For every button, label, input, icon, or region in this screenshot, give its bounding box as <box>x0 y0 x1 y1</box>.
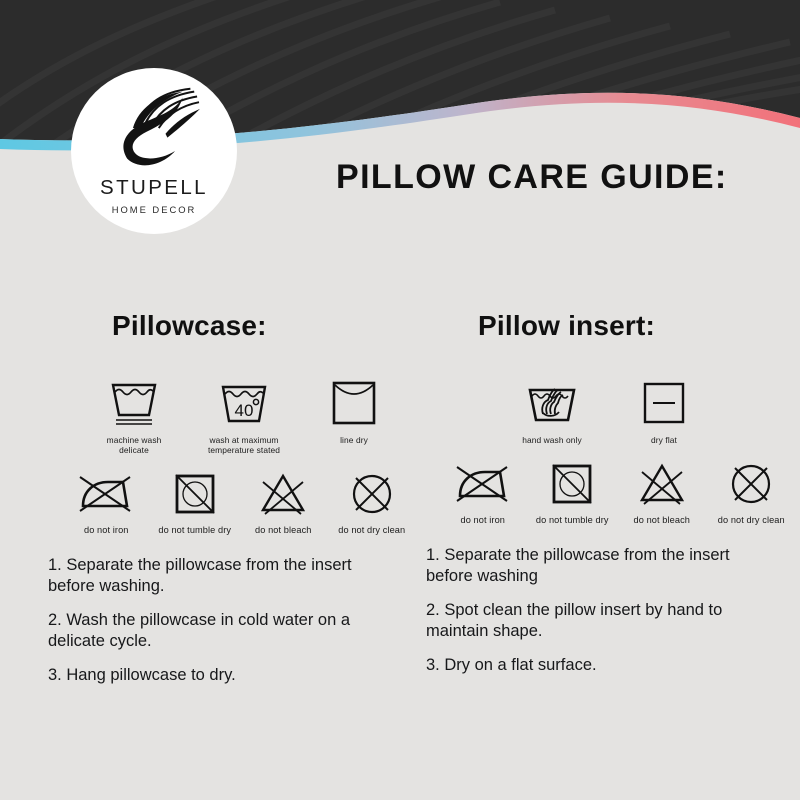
do-not-dry-clean-icon <box>349 469 395 519</box>
icon-dry-flat: dry flat <box>622 378 706 445</box>
icon-caption: do not dry clean <box>338 525 405 535</box>
icon-caption: do not iron <box>460 515 505 525</box>
icon-caption: wash at maximum temperature stated <box>208 435 280 455</box>
pillow-insert-icon-row-primary: hand wash only dry flat <box>510 378 790 445</box>
do-not-bleach-icon <box>258 469 308 519</box>
icon-do-not-dry-clean: do not dry clean <box>334 469 411 535</box>
section-heading-pillowcase: Pillowcase: <box>112 310 410 342</box>
do-not-dry-clean-icon <box>728 459 774 509</box>
icon-caption: do not tumble dry <box>536 515 609 525</box>
pillow-insert-steps: 1. Separate the pillowcase from the inse… <box>426 545 790 676</box>
icon-caption: dry flat <box>651 435 677 445</box>
icon-do-not-tumble-dry: do not tumble dry <box>157 469 234 535</box>
icon-do-not-tumble-dry: do not tumble dry <box>534 459 612 525</box>
do-not-tumble-dry-icon <box>172 469 218 519</box>
icon-caption: do not bleach <box>634 515 690 525</box>
step-item: 2. Spot clean the pillow insert by hand … <box>426 600 776 642</box>
icon-caption: do not iron <box>84 525 129 535</box>
do-not-iron-icon <box>455 459 511 509</box>
do-not-tumble-dry-icon <box>549 459 595 509</box>
icon-machine-wash-delicate: machine wash delicate <box>92 378 176 455</box>
stupell-swoosh-logo-icon <box>106 84 202 174</box>
icon-wash-40-degrees: 40 wash at maximum temperature stated <box>202 378 286 455</box>
brand-logo-badge: STUPELL HOME DECOR <box>71 68 237 234</box>
step-item: 3. Dry on a flat surface. <box>426 655 776 676</box>
dry-flat-icon <box>641 378 687 428</box>
pillowcase-steps: 1. Separate the pillowcase from the inse… <box>48 555 410 686</box>
do-not-bleach-icon <box>637 459 687 509</box>
pillow-insert-section: Pillow insert: hand wash only <box>420 310 790 689</box>
machine-wash-delicate-icon <box>108 378 160 428</box>
icon-do-not-bleach: do not bleach <box>623 459 701 525</box>
step-item: 1. Separate the pillowcase from the inse… <box>48 555 398 597</box>
pillow-insert-icon-row-prohibitions: do not iron do not tumble dry <box>444 459 790 525</box>
pillowcase-section: Pillowcase: machine wash delicate <box>40 310 410 699</box>
icon-caption: do not bleach <box>255 525 311 535</box>
svg-text:40: 40 <box>235 401 254 420</box>
icon-caption: hand wash only <box>522 435 582 445</box>
pillow-care-guide-page: STUPELL HOME DECOR PILLOW CARE GUIDE: Pi… <box>0 0 800 800</box>
icon-do-not-iron: do not iron <box>68 469 145 535</box>
line-dry-icon <box>331 378 377 428</box>
hand-wash-only-icon <box>525 378 579 428</box>
brand-name: STUPELL <box>100 176 208 200</box>
step-item: 2. Wash the pillowcase in cold water on … <box>48 610 398 652</box>
step-item: 1. Separate the pillowcase from the inse… <box>426 545 776 587</box>
section-heading-pillow-insert: Pillow insert: <box>478 310 790 342</box>
icon-caption: do not dry clean <box>718 515 785 525</box>
icon-caption: machine wash delicate <box>107 435 162 455</box>
pillowcase-icon-row-prohibitions: do not iron do not tumble dry <box>68 469 410 535</box>
wash-40-degrees-icon: 40 <box>218 378 270 428</box>
icon-hand-wash-only: hand wash only <box>510 378 594 445</box>
do-not-iron-icon <box>78 469 134 519</box>
icon-caption: do not tumble dry <box>158 525 231 535</box>
page-title: PILLOW CARE GUIDE: <box>336 158 728 197</box>
icon-do-not-bleach: do not bleach <box>245 469 322 535</box>
step-item: 3. Hang pillowcase to dry. <box>48 665 398 686</box>
pillowcase-icon-row-primary: machine wash delicate 40 wash at maximum… <box>92 378 410 455</box>
icon-line-dry: line dry <box>312 378 396 445</box>
brand-tagline: HOME DECOR <box>112 204 197 215</box>
icon-do-not-iron: do not iron <box>444 459 522 525</box>
icon-caption: line dry <box>340 435 368 445</box>
icon-do-not-dry-clean: do not dry clean <box>713 459 791 525</box>
